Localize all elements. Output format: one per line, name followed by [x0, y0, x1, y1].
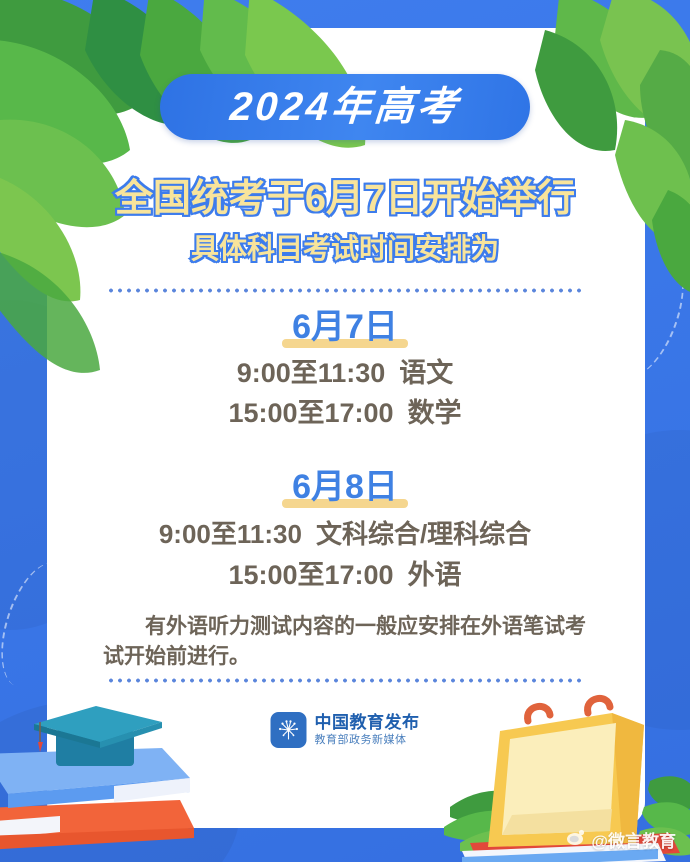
session-subject: 语文 — [399, 358, 453, 388]
logo-sub-text: 教育部政务新媒体 — [315, 735, 420, 746]
headline: 全国统考于6月7日开始举行 — [0, 178, 690, 221]
tree-sprout-icon — [271, 712, 307, 748]
session-subject: 文科综合/理科综合 — [316, 519, 531, 549]
content-card — [47, 28, 645, 828]
schedule-row: 9:00至11:30文科综合/理科综合 — [0, 521, 690, 547]
schedule-row: 9:00至11:30语文 — [0, 360, 690, 387]
poster-root: 2024年高考 全国统考于6月7日开始举行 具体科目考试时间安排为 6月7日 9… — [0, 0, 690, 862]
day-label: 6月8日 — [292, 468, 398, 506]
weibo-icon — [566, 827, 586, 852]
session-subject: 外语 — [408, 560, 462, 590]
title-badge-text: 2024年高考 — [229, 87, 462, 127]
day-heading-june7: 6月7日 — [0, 310, 690, 348]
footnote: 有外语听力测试内容的一般应安排在外语笔试考试开始前进行。 — [103, 612, 587, 672]
day-heading-june8: 6月8日 — [0, 470, 690, 508]
session-subject: 数学 — [408, 398, 462, 428]
divider-dotted-top — [105, 288, 585, 293]
session-time: 15:00至17:00 — [228, 398, 393, 428]
schedule-row: 15:00至17:00外语 — [0, 562, 690, 589]
session-time: 15:00至17:00 — [228, 560, 393, 590]
watermark: @微言教育 — [566, 827, 676, 852]
watermark-handle: @微言教育 — [591, 827, 676, 852]
schedule-row: 15:00至17:00数学 — [0, 400, 690, 427]
subheadline: 具体科目考试时间安排为 — [0, 233, 690, 264]
session-time: 9:00至11:30 — [159, 519, 302, 549]
session-time: 9:00至11:30 — [237, 358, 386, 388]
title-badge: 2024年高考 — [160, 74, 530, 140]
logo-main-text: 中国教育发布 — [315, 714, 420, 731]
publisher-logo: 中国教育发布 教育部政务新媒体 — [271, 712, 420, 748]
divider-dotted-bottom — [105, 678, 585, 683]
day-label: 6月7日 — [292, 308, 398, 346]
